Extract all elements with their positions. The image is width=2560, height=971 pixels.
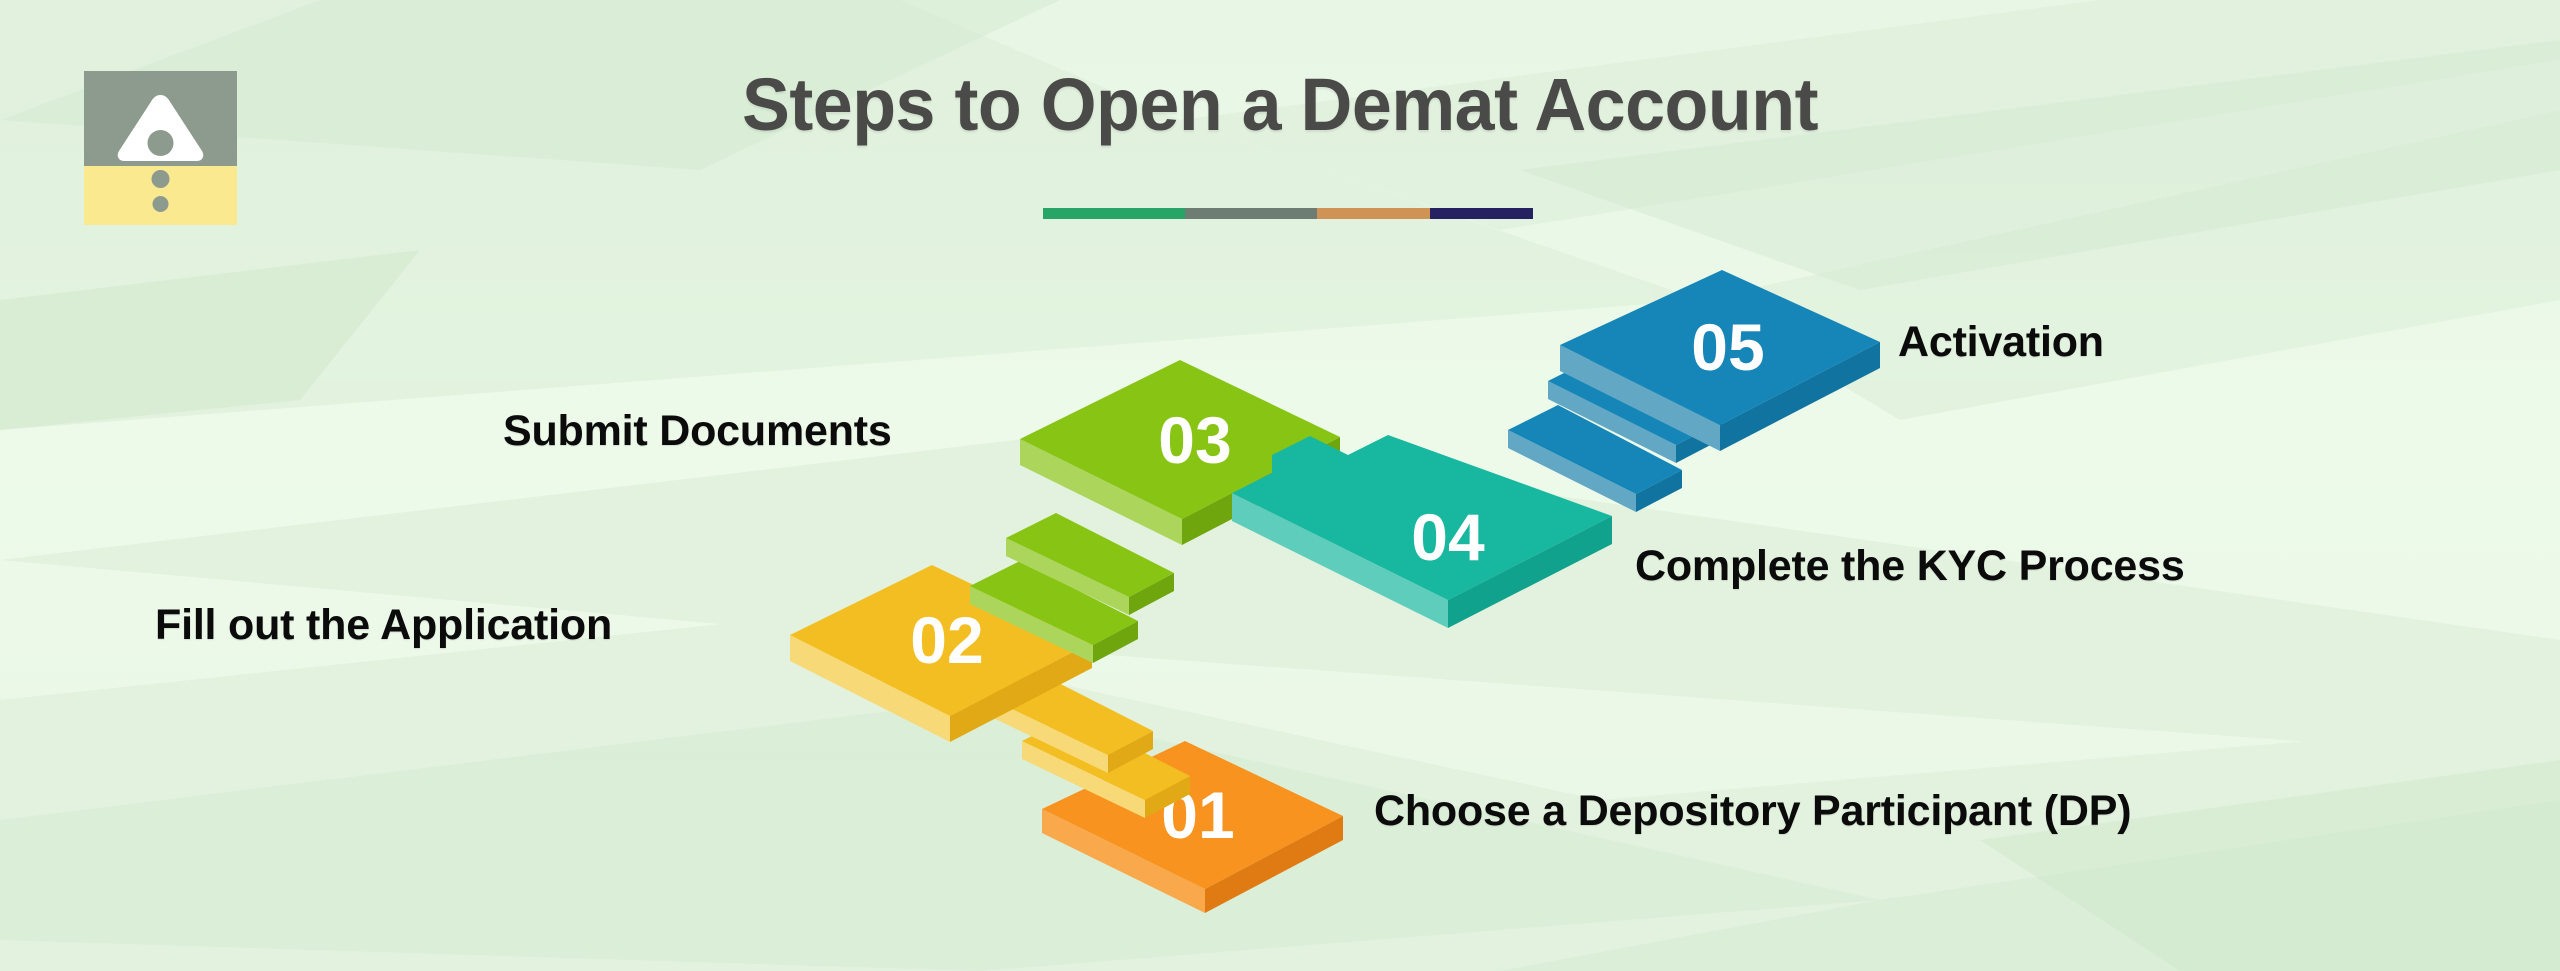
step-label-02: Fill out the Application <box>155 601 612 650</box>
step-05-number: 05 <box>1691 310 1764 384</box>
step-03-number: 03 <box>1158 403 1231 477</box>
step-label-04: Complete the KYC Process <box>1635 542 2185 591</box>
steps-diagram: 01 02 <box>0 0 2560 971</box>
step-04-number: 04 <box>1411 500 1485 574</box>
step-02-number: 02 <box>910 603 983 677</box>
step-label-05: Activation <box>1898 318 2104 367</box>
step-label-03: Submit Documents <box>503 407 892 456</box>
infographic-canvas: Steps to Open a Demat Account 01 <box>0 0 2560 971</box>
step-label-01: Choose a Depository Participant (DP) <box>1374 787 2131 836</box>
